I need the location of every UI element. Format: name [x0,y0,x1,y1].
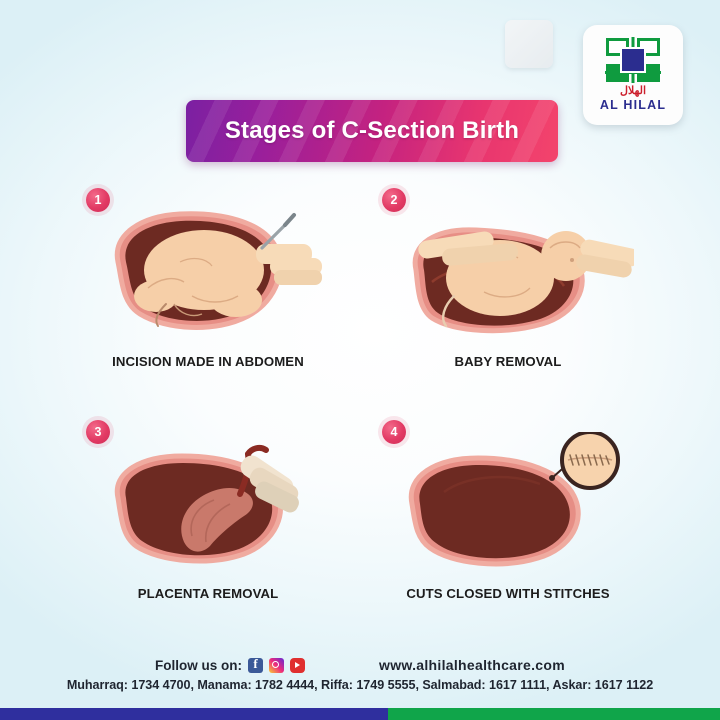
steps-grid: 1 INCISION MADE I [0,178,720,618]
closed-womb-with-stitches-magnifier-illustration [384,432,634,572]
decorative-square [505,20,553,68]
logo-brand-name: AL HILAL [600,99,666,112]
step-caption: BABY REMOVAL [348,354,668,369]
follow-us-label: Follow us on: [155,658,242,673]
step-2: 2 BABY REMOVAL [348,178,668,388]
step-caption: INCISION MADE IN ABDOMEN [48,354,368,369]
step-4: 4 CUTS CLOSED WITH STITCHES [348,410,668,620]
womb-with-fetus-and-scalpel-hand-illustration [88,200,338,340]
footer-top-line: Follow us on: www.alhilalhealthcare.com [0,654,720,676]
website-url[interactable]: www.alhilalhealthcare.com [379,657,565,673]
follow-us-group: Follow us on: [155,658,305,673]
step-1: 1 INCISION MADE I [52,178,372,388]
hands-lifting-baby-from-womb-illustration [384,200,634,340]
instagram-icon[interactable] [269,658,284,673]
bottom-bar-blue [0,708,388,720]
hand-pulling-placenta-from-womb-illustration [88,432,338,572]
al-hilal-cross-logo-icon [606,38,660,82]
infographic-poster: الهلال AL HILAL Stages of C-Section Birt… [0,0,720,720]
logo-arabic-text: الهلال [620,86,646,97]
branch-phone-numbers: Muharraq: 1734 4700, Manama: 1782 4444, … [0,678,720,692]
youtube-icon[interactable] [290,658,305,673]
step-caption: PLACENTA REMOVAL [48,586,368,601]
page-title: Stages of C-Section Birth [225,117,519,145]
footer: Follow us on: www.alhilalhealthcare.com … [0,648,720,708]
facebook-icon[interactable] [248,658,263,673]
step-caption: CUTS CLOSED WITH STITCHES [348,586,668,601]
bottom-color-bar [0,708,720,720]
bottom-bar-green [388,708,720,720]
al-hilal-logo[interactable]: الهلال AL HILAL [583,25,683,125]
step-3: 3 PLACENTA REMOVAL [52,410,372,620]
title-banner: Stages of C-Section Birth [186,100,558,162]
